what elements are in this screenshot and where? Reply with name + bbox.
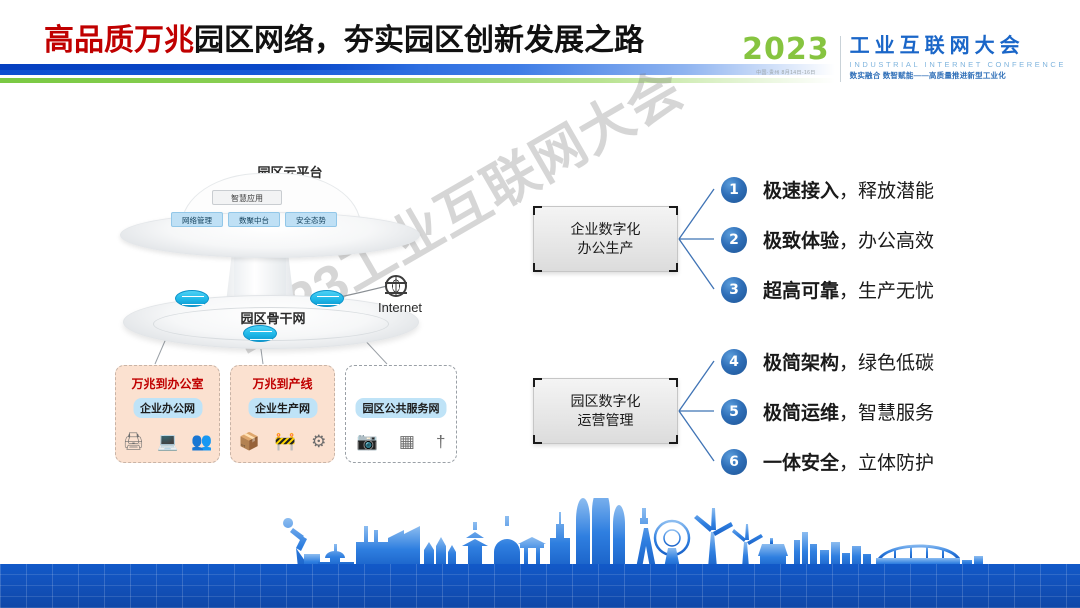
cctv-camera-icon: 📷 xyxy=(357,432,378,452)
header-rule-blue-dark xyxy=(0,64,420,70)
page-title: 高品质万兆园区网络，夯实园区创新发展之路 xyxy=(44,22,644,60)
card-office: 万兆到办公室 企业办公网 🖨 💻 👥 xyxy=(115,365,220,463)
meeting-room-icon: 👥 xyxy=(191,432,212,452)
card-production: 万兆到产线 企业生产网 📦 🚧 ⚙ xyxy=(230,365,335,463)
card-public-service: 园区公共服务网 📷 ▦ † xyxy=(345,365,457,463)
logo-year: 2023 xyxy=(742,34,830,66)
slide-header: 高品质万兆园区网络，夯实园区创新发展之路 2023 中国·贵州 8月14日-16… xyxy=(0,0,1080,100)
corner-bracket xyxy=(533,263,542,272)
slide-root: 高品质万兆园区网络，夯实园区创新发展之路 2023 中国·贵州 8月14日-16… xyxy=(0,0,1080,608)
benefit-text: 超高可靠，生产无忧 xyxy=(763,276,934,303)
benefit-text-bold: 一体安全 xyxy=(763,453,839,474)
footer-grid-plane xyxy=(0,564,1080,608)
benefit-text-rest: ，生产无忧 xyxy=(839,281,934,302)
benefit-item: 2 极致体验，办公高效 xyxy=(721,226,934,253)
logo-name-en: INDUSTRIAL INTERNET CONFERENCE xyxy=(850,59,1066,70)
cloud-box-data-platform: 数聚中台 xyxy=(228,212,280,227)
conference-logo: 2023 中国·贵州 8月14日-16日 工业互联网大会 INDUSTRIAL … xyxy=(742,34,1066,86)
benefit-text-rest: ，立体防护 xyxy=(839,453,934,474)
benefit-number-badge: 6 xyxy=(721,449,747,475)
benefit-text-bold: 超高可靠 xyxy=(763,281,839,302)
printer-icon: 🖨 xyxy=(123,432,145,452)
group-box-campus-digital: 园区数字化 运营管理 xyxy=(533,378,678,444)
machine-icon: 🚧 xyxy=(275,432,296,452)
benefit-text: 极简架构，绿色低碳 xyxy=(763,348,934,375)
internet-label: Internet xyxy=(361,300,439,315)
light-pole-icon: † xyxy=(436,432,445,452)
gate-icon: ▦ xyxy=(399,432,415,452)
group-box-enterprise-digital-text: 企业数字化 办公生产 xyxy=(571,220,641,258)
cloud-box-security-posture: 安全态势 xyxy=(285,212,337,227)
corner-bracket xyxy=(669,378,678,387)
card-public-service-icons: 📷 ▦ † xyxy=(346,432,456,452)
slide-footer xyxy=(0,498,1080,608)
corner-bracket xyxy=(533,435,542,444)
corner-bracket xyxy=(669,263,678,272)
group-box-enterprise-digital: 企业数字化 办公生产 xyxy=(533,206,678,272)
header-rule-green xyxy=(0,78,835,83)
monitor-icon: 💻 xyxy=(157,432,178,452)
router-icon xyxy=(175,290,209,307)
box-icon: 📦 xyxy=(239,432,260,452)
corner-bracket xyxy=(669,435,678,444)
benefit-text-bold: 极简运维 xyxy=(763,403,839,424)
benefit-item: 1 极速接入，释放潜能 xyxy=(721,176,934,203)
benefit-text: 极简运维，智慧服务 xyxy=(763,398,934,425)
cloud-box-network-management: 网络管理 xyxy=(171,212,223,227)
group-1-line-1: 企业数字化 xyxy=(571,220,641,239)
benefit-text-rest: ，绿色低碳 xyxy=(839,353,934,374)
benefit-text: 极致体验，办公高效 xyxy=(763,226,934,253)
benefit-item: 4 极简架构，绿色低碳 xyxy=(721,348,934,375)
benefit-number-badge: 3 xyxy=(721,277,747,303)
benefit-text-bold: 极简架构 xyxy=(763,353,839,374)
benefit-text-rest: ，智慧服务 xyxy=(839,403,934,424)
benefit-text-rest: ，办公高效 xyxy=(839,231,934,252)
corner-bracket xyxy=(533,206,542,215)
benefit-item: 5 极简运维，智慧服务 xyxy=(721,398,934,425)
card-office-icons: 🖨 💻 👥 xyxy=(116,432,219,452)
router-icon xyxy=(243,325,277,342)
benefit-text: 一体安全，立体防护 xyxy=(763,448,934,475)
benefit-item: 3 超高可靠，生产无忧 xyxy=(721,276,934,303)
corner-bracket xyxy=(533,378,542,387)
footer-skyline-svg xyxy=(0,498,1080,568)
benefits-panel: 企业数字化 办公生产 园区数字化 运营管理 1 极速接入，释放潜能 2 极致体验… xyxy=(505,160,1065,500)
benefit-text-bold: 极速接入 xyxy=(763,181,839,202)
benefit-text-rest: ，释放潜能 xyxy=(839,181,934,202)
corner-bracket xyxy=(669,206,678,215)
footer-skyline xyxy=(0,498,1080,568)
benefit-number-badge: 1 xyxy=(721,177,747,203)
logo-slogan: 数实融合 数智赋能——高质量推进新型工业化 xyxy=(850,70,1066,81)
robot-arm-icon: ⚙ xyxy=(311,432,326,452)
logo-name-cn: 工业互联网大会 xyxy=(850,34,1066,58)
card-office-title: 万兆到办公室 xyxy=(116,375,219,392)
benefit-number-badge: 5 xyxy=(721,399,747,425)
logo-divider xyxy=(840,36,841,82)
logo-text-block: 工业互联网大会 INDUSTRIAL INTERNET CONFERENCE 数… xyxy=(850,34,1066,81)
card-public-service-network: 园区公共服务网 xyxy=(356,398,447,418)
benefit-text: 极速接入，释放潜能 xyxy=(763,176,934,203)
card-office-network: 企业办公网 xyxy=(133,398,202,418)
page-title-rest: 园区网络，夯实园区创新发展之路 xyxy=(194,24,644,57)
backbone-network-label: 园区骨干网 xyxy=(213,308,333,327)
group-1-line-2: 办公生产 xyxy=(571,239,641,258)
cloud-box-smart-apps: 智慧应用 xyxy=(212,190,282,205)
benefit-number-badge: 4 xyxy=(721,349,747,375)
logo-year-block: 2023 中国·贵州 8月14日-16日 xyxy=(742,34,840,76)
router-icon xyxy=(310,290,344,307)
benefit-number-badge: 2 xyxy=(721,227,747,253)
card-production-network: 企业生产网 xyxy=(248,398,317,418)
group-box-campus-digital-text: 园区数字化 运营管理 xyxy=(571,392,641,430)
card-production-title: 万兆到产线 xyxy=(231,375,334,392)
campus-network-diagram: 园区云平台 智慧应用 网络管理 数聚中台 安全态势 园区骨干网 Internet… xyxy=(95,150,485,490)
benefit-text-bold: 极致体验 xyxy=(763,231,839,252)
benefit-item: 6 一体安全，立体防护 xyxy=(721,448,934,475)
logo-date-line: 中国·贵州 8月14日-16日 xyxy=(742,69,830,76)
group-2-line-2: 运营管理 xyxy=(571,411,641,430)
card-production-icons: 📦 🚧 ⚙ xyxy=(231,432,334,452)
group-2-line-1: 园区数字化 xyxy=(571,392,641,411)
page-title-highlight: 高品质万兆 xyxy=(44,24,194,57)
globe-icon xyxy=(385,275,407,297)
